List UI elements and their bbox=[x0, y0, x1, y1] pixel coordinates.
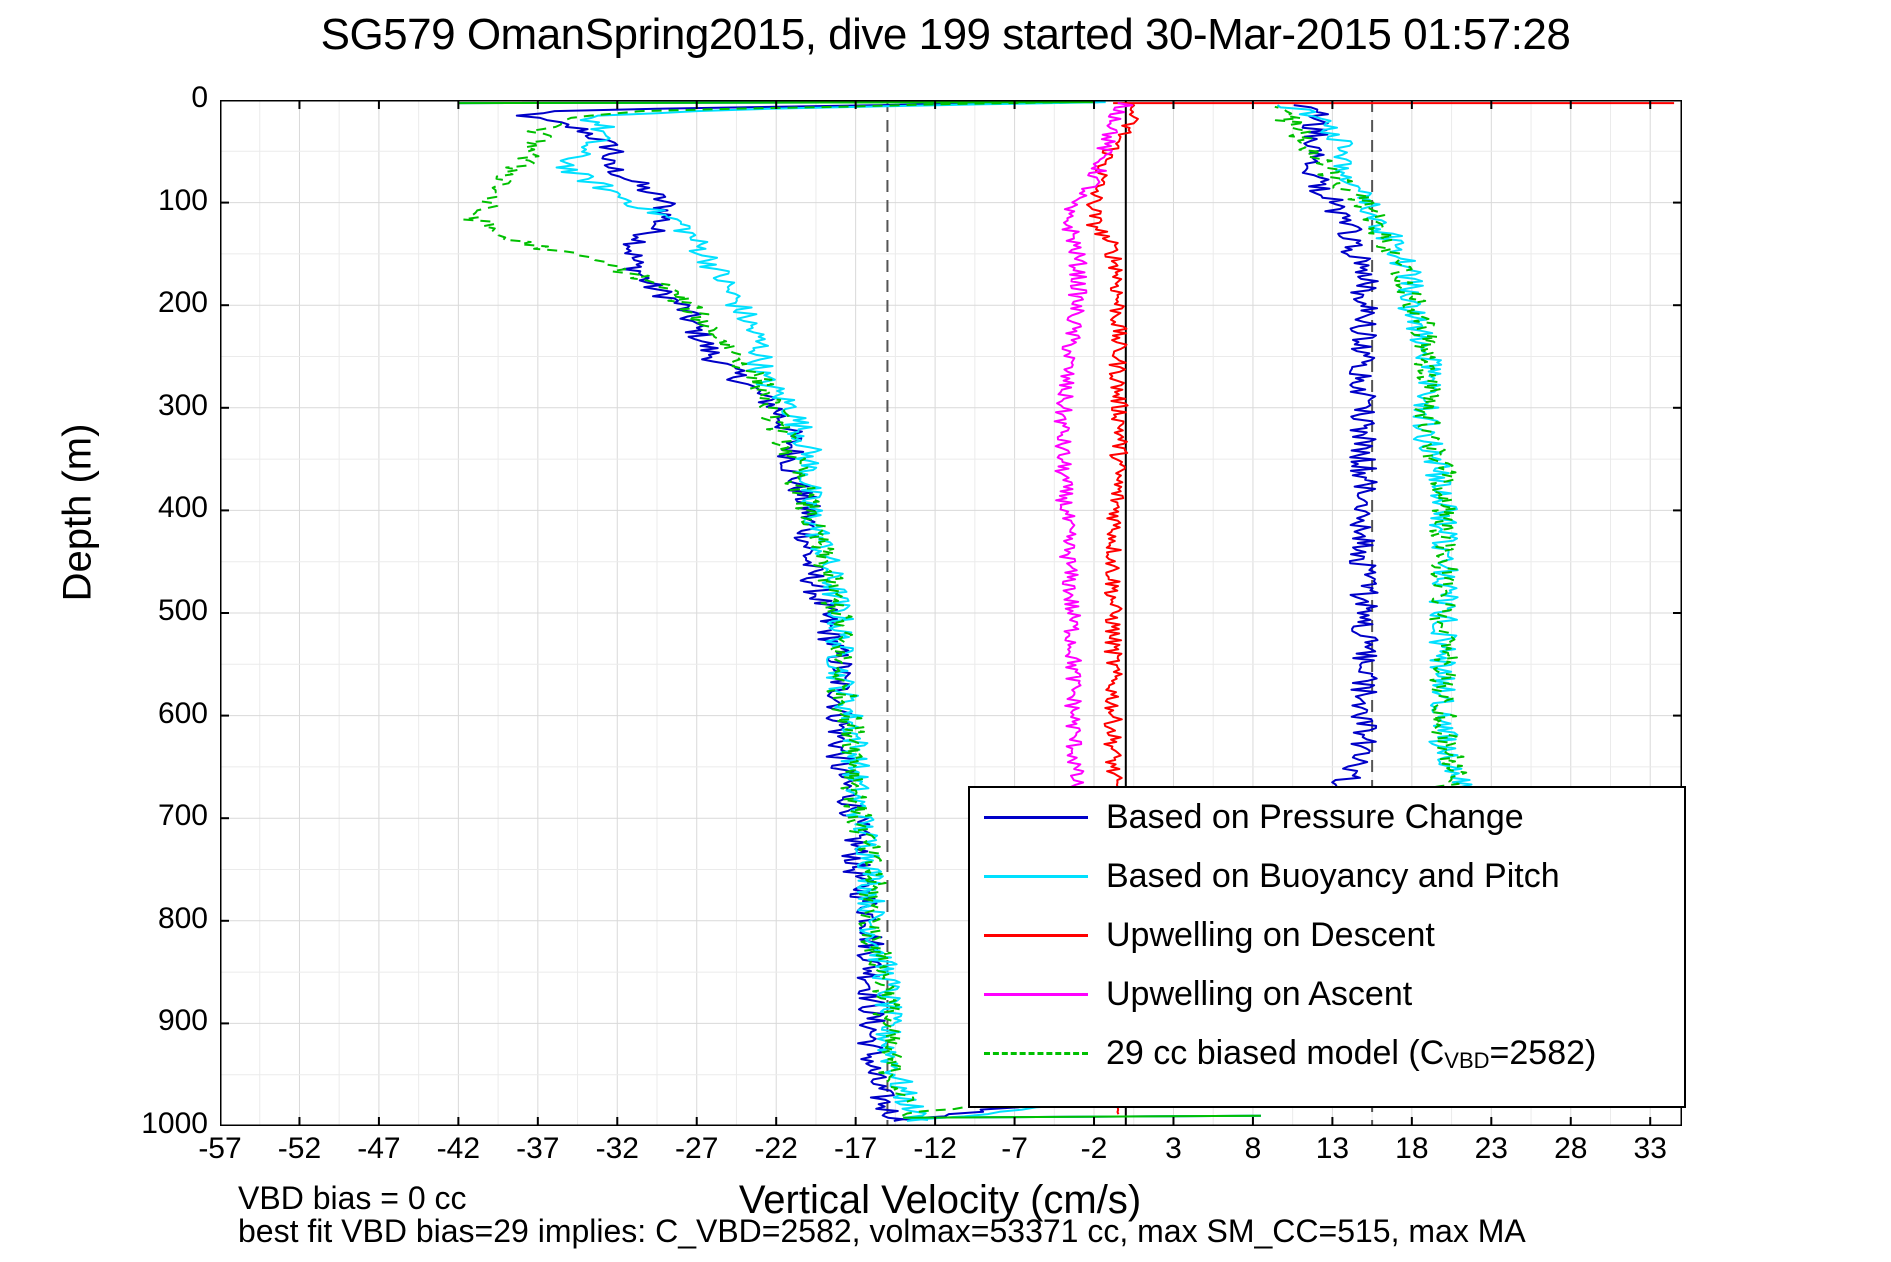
legend-swatch-buoyancy-pitch bbox=[984, 875, 1088, 878]
legend-label-buoyancy-pitch: Based on Buoyancy and Pitch bbox=[1106, 857, 1560, 896]
best-fit-note: best fit VBD bias=29 implies: C_VBD=2582… bbox=[238, 1213, 1526, 1250]
legend-swatch-upwelling-ascent bbox=[984, 993, 1088, 996]
y-tick-label: 300 bbox=[68, 389, 208, 423]
x-tick-label: -12 bbox=[895, 1132, 975, 1166]
legend-swatch-upwelling-descent bbox=[984, 934, 1088, 937]
legend-label-biased-model-sub: VBD bbox=[1444, 1048, 1489, 1073]
y-tick-label: 200 bbox=[68, 286, 208, 320]
x-tick-label: -47 bbox=[339, 1132, 419, 1166]
legend-label-biased-model-text: 29 cc biased model (C bbox=[1106, 1034, 1444, 1072]
x-tick-label: -52 bbox=[259, 1132, 339, 1166]
x-tick-label: 13 bbox=[1292, 1132, 1372, 1166]
vbd-bias-note: VBD bias = 0 cc bbox=[238, 1180, 467, 1217]
legend-item: Based on Pressure Change bbox=[970, 788, 1684, 847]
legend-swatch-pressure-change bbox=[984, 816, 1088, 819]
x-tick-label: 28 bbox=[1531, 1132, 1611, 1166]
legend-label-biased-model-tail: =2582) bbox=[1490, 1034, 1597, 1072]
x-tick-label: -22 bbox=[736, 1132, 816, 1166]
y-tick-label: 900 bbox=[68, 1004, 208, 1038]
y-tick-label: 100 bbox=[68, 184, 208, 218]
x-tick-label: -32 bbox=[577, 1132, 657, 1166]
y-tick-label: 700 bbox=[68, 799, 208, 833]
y-tick-label: 0 bbox=[68, 81, 208, 115]
x-tick-label: 18 bbox=[1372, 1132, 1452, 1166]
x-tick-label: 8 bbox=[1213, 1132, 1293, 1166]
legend-item: 29 cc biased model (CVBD=2582) bbox=[970, 1024, 1684, 1083]
legend-label-upwelling-descent: Upwelling on Descent bbox=[1106, 916, 1435, 955]
series-line bbox=[1055, 103, 1133, 796]
y-tick-label: 800 bbox=[68, 902, 208, 936]
legend-swatch-biased-model bbox=[984, 1052, 1088, 1055]
y-tick-label: 500 bbox=[68, 594, 208, 628]
y-tick-label: 600 bbox=[68, 697, 208, 731]
legend-item: Upwelling on Ascent bbox=[970, 965, 1684, 1024]
legend-item: Based on Buoyancy and Pitch bbox=[970, 847, 1684, 906]
y-tick-label: 400 bbox=[68, 491, 208, 525]
legend-label-biased-model: 29 cc biased model (CVBD=2582) bbox=[1106, 1034, 1596, 1074]
x-tick-label: 23 bbox=[1451, 1132, 1531, 1166]
chart-title: SG579 OmanSpring2015, dive 199 started 3… bbox=[0, 10, 1891, 60]
x-tick-label: -37 bbox=[498, 1132, 578, 1166]
legend-item: Upwelling on Descent bbox=[970, 906, 1684, 965]
legend-label-pressure-change: Based on Pressure Change bbox=[1106, 798, 1524, 837]
x-tick-label: -27 bbox=[657, 1132, 737, 1166]
x-tick-label: 33 bbox=[1610, 1132, 1690, 1166]
x-tick-label: -7 bbox=[975, 1132, 1055, 1166]
legend: Based on Pressure Change Based on Buoyan… bbox=[968, 786, 1686, 1108]
figure: SG579 OmanSpring2015, dive 199 started 3… bbox=[0, 0, 1891, 1262]
x-tick-label: -57 bbox=[180, 1132, 260, 1166]
x-tick-label: -42 bbox=[418, 1132, 498, 1166]
legend-label-upwelling-ascent: Upwelling on Ascent bbox=[1106, 975, 1412, 1014]
x-tick-label: -2 bbox=[1054, 1132, 1134, 1166]
x-tick-label: 3 bbox=[1133, 1132, 1213, 1166]
x-tick-label: -17 bbox=[816, 1132, 896, 1166]
